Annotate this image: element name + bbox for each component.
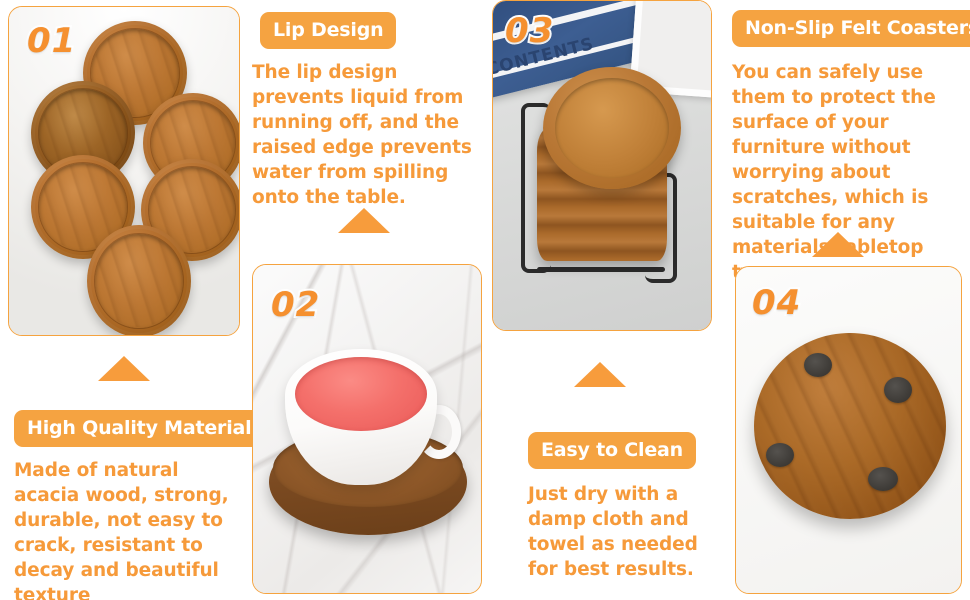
column-1: 01 High Quality Material: Made of natura… bbox=[0, 0, 244, 600]
wire-holder-base bbox=[537, 267, 665, 272]
photo-panel-04: 04 bbox=[735, 266, 962, 594]
body-text-1: Made of natural acacia wood, strong, dur… bbox=[14, 458, 240, 600]
felt-pad-top-right bbox=[884, 377, 912, 403]
heading-badge-4: Non-Slip Felt Coasters bbox=[732, 10, 970, 47]
heading-badge-2: Lip Design bbox=[260, 12, 396, 49]
felt-pad-top-left bbox=[804, 353, 832, 377]
felt-pad-bottom-left bbox=[766, 443, 794, 467]
pink-tea-surface bbox=[295, 357, 427, 431]
column-2: Lip Design The lip design prevents liqui… bbox=[246, 0, 486, 600]
step-number-02: 02 bbox=[271, 285, 320, 325]
infographic-page: 01 High Quality Material: Made of natura… bbox=[0, 0, 970, 600]
photo-panel-02: 02 bbox=[252, 264, 482, 594]
heading-badge-label-3: Easy to Clean bbox=[528, 432, 696, 469]
heading-badge-1: High Quality Material: bbox=[14, 410, 272, 447]
step-number-01: 01 bbox=[27, 21, 76, 61]
column-3: CONTENTS 03 Easy to Clean Just dry with … bbox=[490, 0, 716, 600]
top-coaster bbox=[543, 67, 681, 189]
heading-badge-label-2: Lip Design bbox=[260, 12, 396, 49]
felt-pad-bottom-right bbox=[868, 467, 898, 491]
up-arrow-1 bbox=[98, 356, 150, 381]
up-arrow-4 bbox=[812, 232, 864, 257]
heading-badge-label-4: Non-Slip Felt Coasters bbox=[732, 10, 970, 47]
step-number-04: 04 bbox=[752, 283, 801, 323]
coaster-bottom bbox=[87, 225, 191, 335]
heading-badge-3: Easy to Clean bbox=[528, 432, 696, 469]
up-arrow-2 bbox=[338, 208, 390, 233]
step-number-03: 03 bbox=[505, 11, 554, 51]
column-4: Non-Slip Felt Coasters You can safely us… bbox=[724, 0, 970, 600]
heading-badge-label-1: High Quality Material: bbox=[14, 410, 272, 447]
body-text-3: Just dry with a damp cloth and towel as … bbox=[528, 482, 710, 582]
up-arrow-3 bbox=[574, 362, 626, 387]
photo-panel-03: CONTENTS 03 bbox=[492, 0, 712, 331]
photo-panel-01: 01 bbox=[8, 6, 240, 336]
coaster-underside bbox=[754, 333, 946, 519]
body-text-2: The lip design prevents liquid from runn… bbox=[252, 60, 484, 210]
